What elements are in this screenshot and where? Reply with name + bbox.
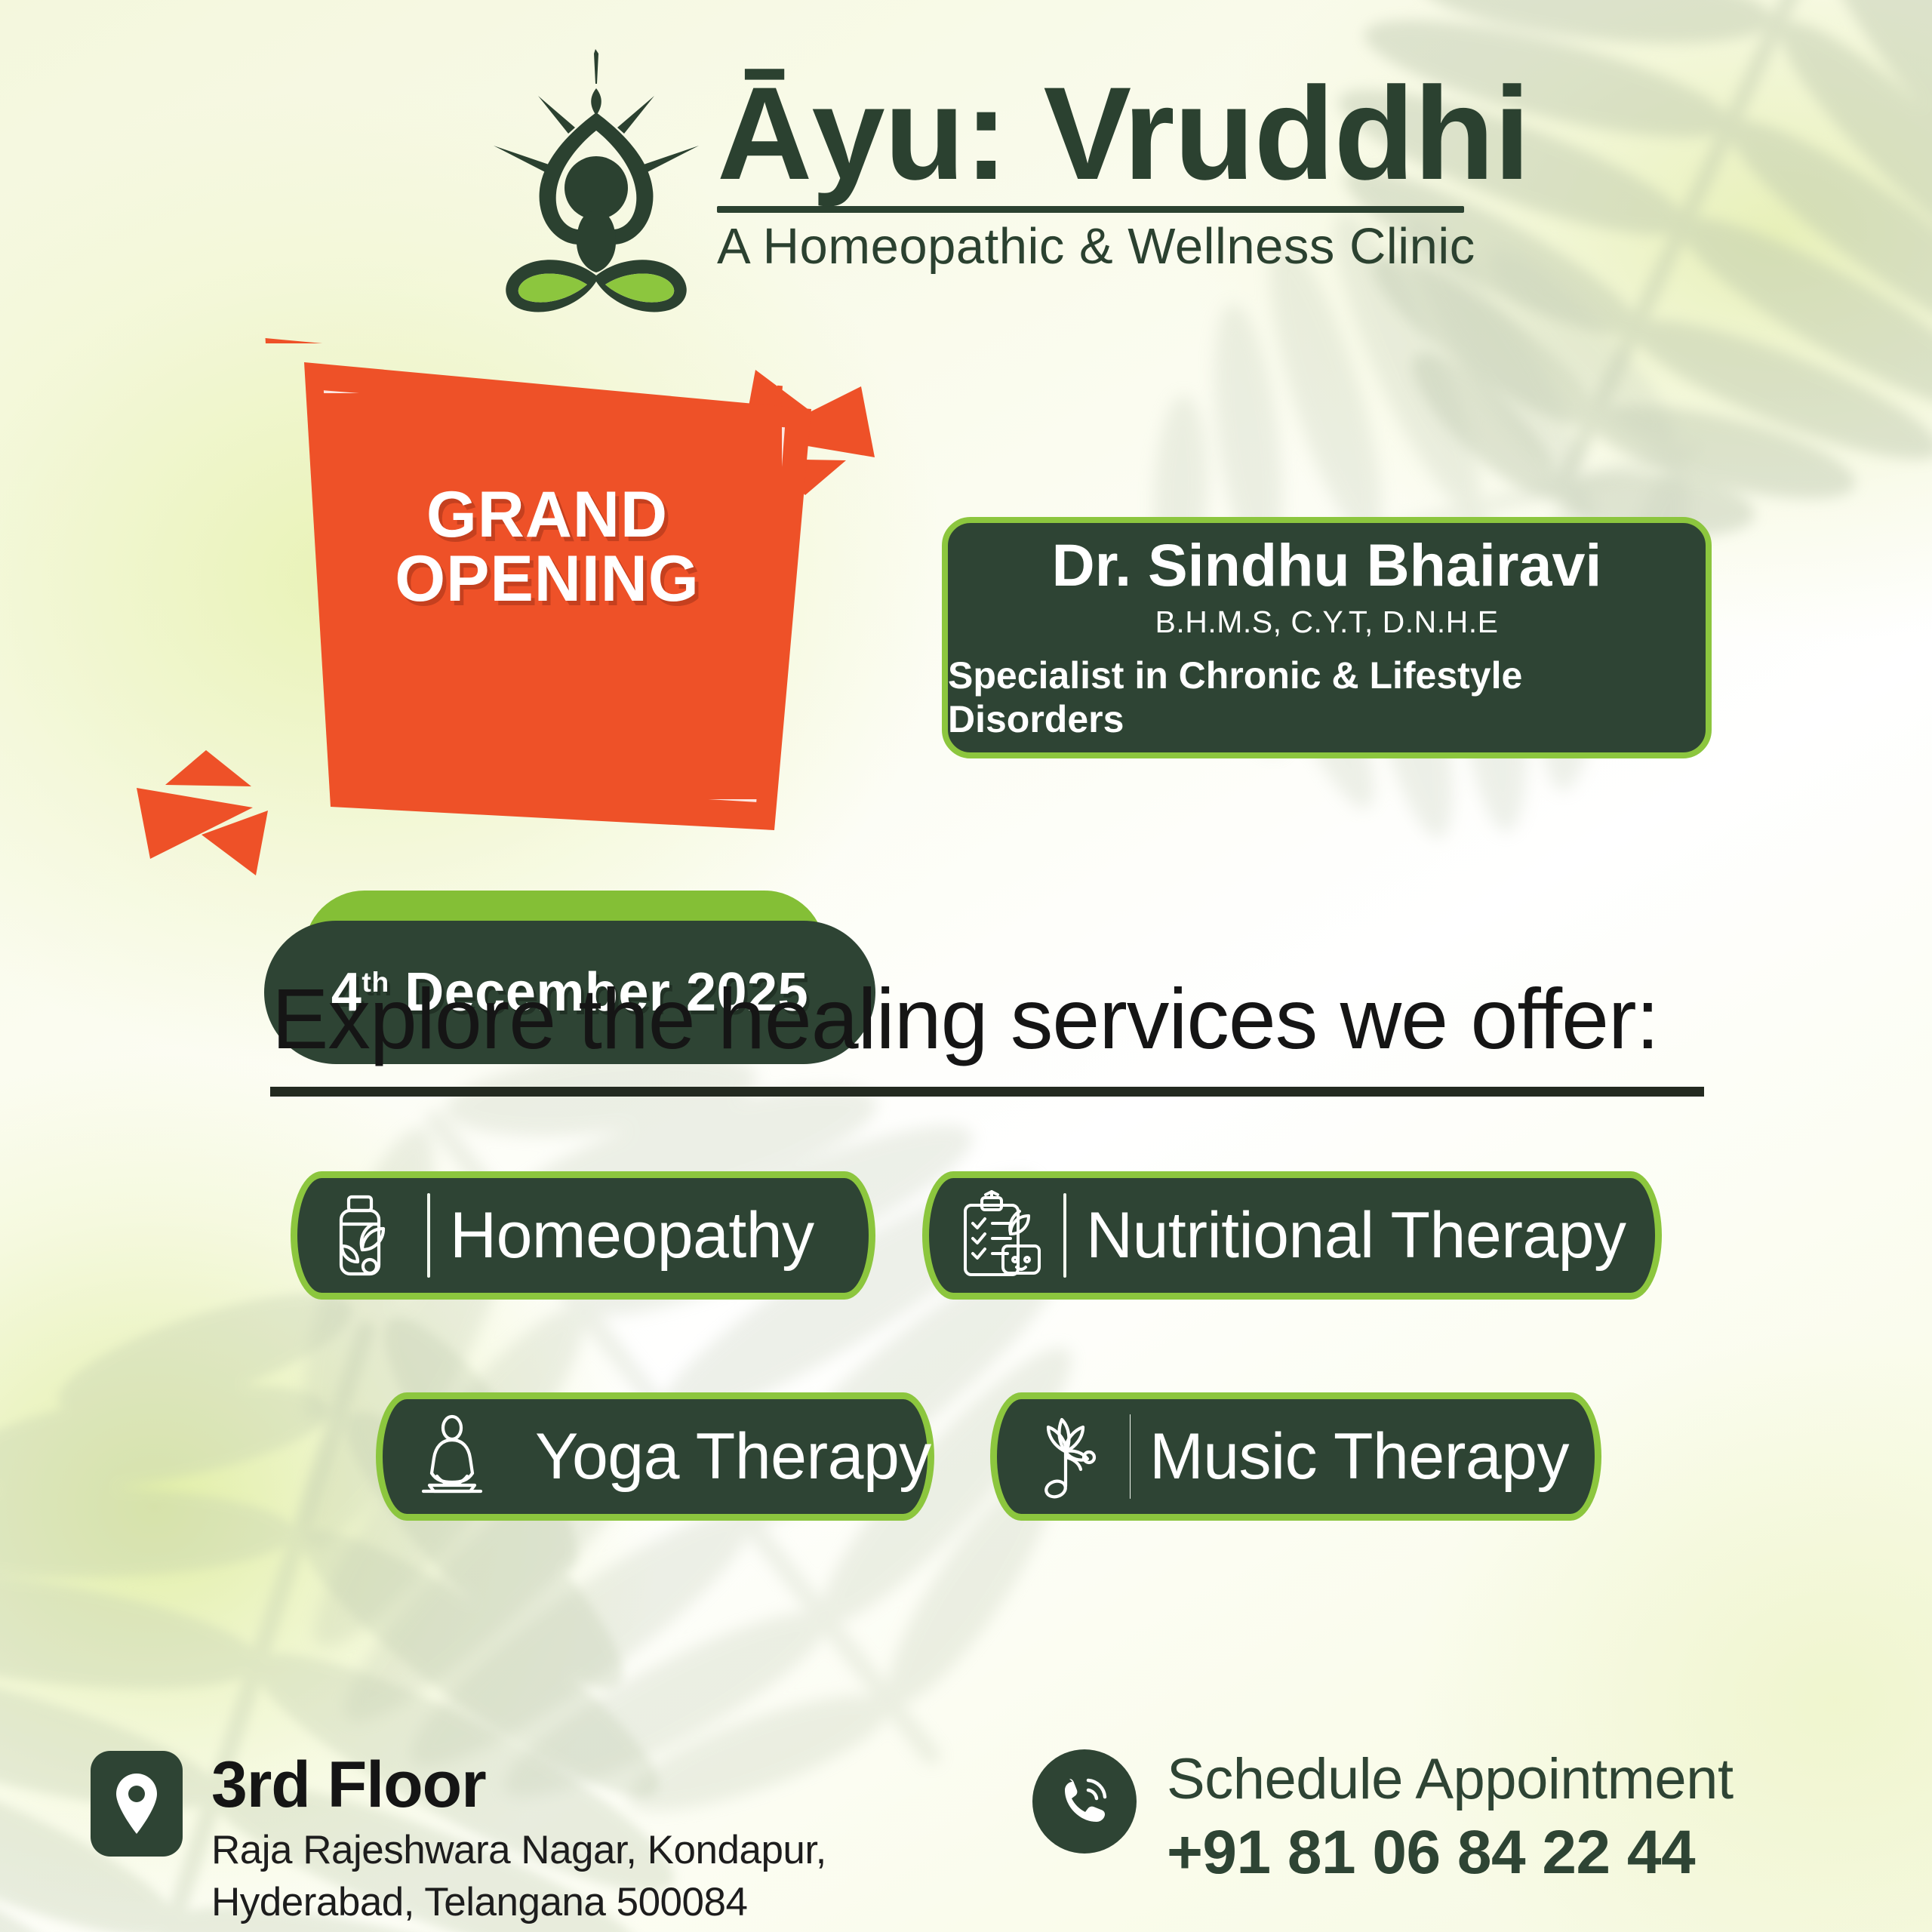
service-pill-music-therapy[interactable]: Music Therapy bbox=[990, 1392, 1601, 1521]
badge-headline: GRAND OPENING bbox=[283, 483, 811, 611]
service-label: Yoga Therapy bbox=[535, 1420, 931, 1494]
music-note-leaves-icon bbox=[1023, 1411, 1110, 1503]
pill-divider bbox=[1063, 1193, 1066, 1278]
badge-headline-line2: OPENING bbox=[283, 547, 811, 611]
brand-name: Āyu: Vruddhi bbox=[717, 68, 1479, 200]
schedule-label: Schedule Appointment bbox=[1167, 1749, 1734, 1810]
services-heading: Explore the healing services we offer: bbox=[272, 970, 1706, 1068]
medicine-bottle-leaf-icon bbox=[323, 1191, 408, 1280]
phone-ringing-icon bbox=[1032, 1749, 1137, 1854]
doctor-name: Dr. Sindhu Bhairavi bbox=[1052, 534, 1602, 597]
lotus-meditation-icon bbox=[483, 49, 709, 313]
service-label: Homeopathy bbox=[450, 1198, 814, 1273]
service-pill-nutritional-therapy[interactable]: Nutritional Therapy bbox=[922, 1171, 1662, 1300]
address-text: 3rd Floor Raja Rajeshwara Nagar, Kondapu… bbox=[211, 1751, 826, 1929]
address-block: 3rd Floor Raja Rajeshwara Nagar, Kondapu… bbox=[91, 1751, 921, 1929]
address-line-1: Raja Rajeshwara Nagar, Kondapur, bbox=[211, 1825, 826, 1877]
map-pin-icon bbox=[91, 1751, 183, 1857]
address-floor: 3rd Floor bbox=[211, 1752, 826, 1817]
appointment-text: Schedule Appointment +91 81 06 84 22 44 bbox=[1167, 1749, 1734, 1888]
grand-opening-badge: GRAND OPENING 4th December 2025 bbox=[192, 317, 894, 891]
burst-rays-bottom-left-icon bbox=[125, 740, 298, 898]
service-pill-homeopathy[interactable]: Homeopathy bbox=[291, 1171, 875, 1300]
services-underline bbox=[270, 1087, 1704, 1097]
brand-logo: Āyu: Vruddhi A Homeopathic & Wellness Cl… bbox=[483, 26, 1479, 321]
doctor-specialty: Specialist in Chronic & Lifestyle Disord… bbox=[948, 654, 1706, 741]
clipboard-vegetables-icon bbox=[955, 1190, 1044, 1281]
badge-headline-line1: GRAND bbox=[283, 483, 811, 547]
doctor-qualifications: B.H.M.S, C.Y.T, D.N.H.E bbox=[1155, 605, 1499, 640]
poster-canvas: Āyu: Vruddhi A Homeopathic & Wellness Cl… bbox=[0, 0, 1932, 1932]
pill-divider bbox=[427, 1193, 430, 1278]
meditation-figure-icon bbox=[408, 1413, 496, 1500]
address-line-2: Hyderabad, Telangana 500084 bbox=[211, 1877, 826, 1929]
appointment-block[interactable]: Schedule Appointment +91 81 06 84 22 44 bbox=[1032, 1749, 1870, 1888]
brand-wordmark: Āyu: Vruddhi A Homeopathic & Wellness Cl… bbox=[717, 68, 1479, 275]
doctor-info-card: Dr. Sindhu Bhairavi B.H.M.S, C.Y.T, D.N.… bbox=[942, 517, 1712, 758]
service-pill-yoga-therapy[interactable]: Yoga Therapy bbox=[376, 1392, 934, 1521]
phone-number: +91 81 06 84 22 44 bbox=[1167, 1817, 1734, 1888]
service-label: Nutritional Therapy bbox=[1086, 1198, 1626, 1273]
service-label: Music Therapy bbox=[1149, 1420, 1569, 1494]
brand-tagline: A Homeopathic & Wellness Clinic bbox=[717, 217, 1479, 275]
